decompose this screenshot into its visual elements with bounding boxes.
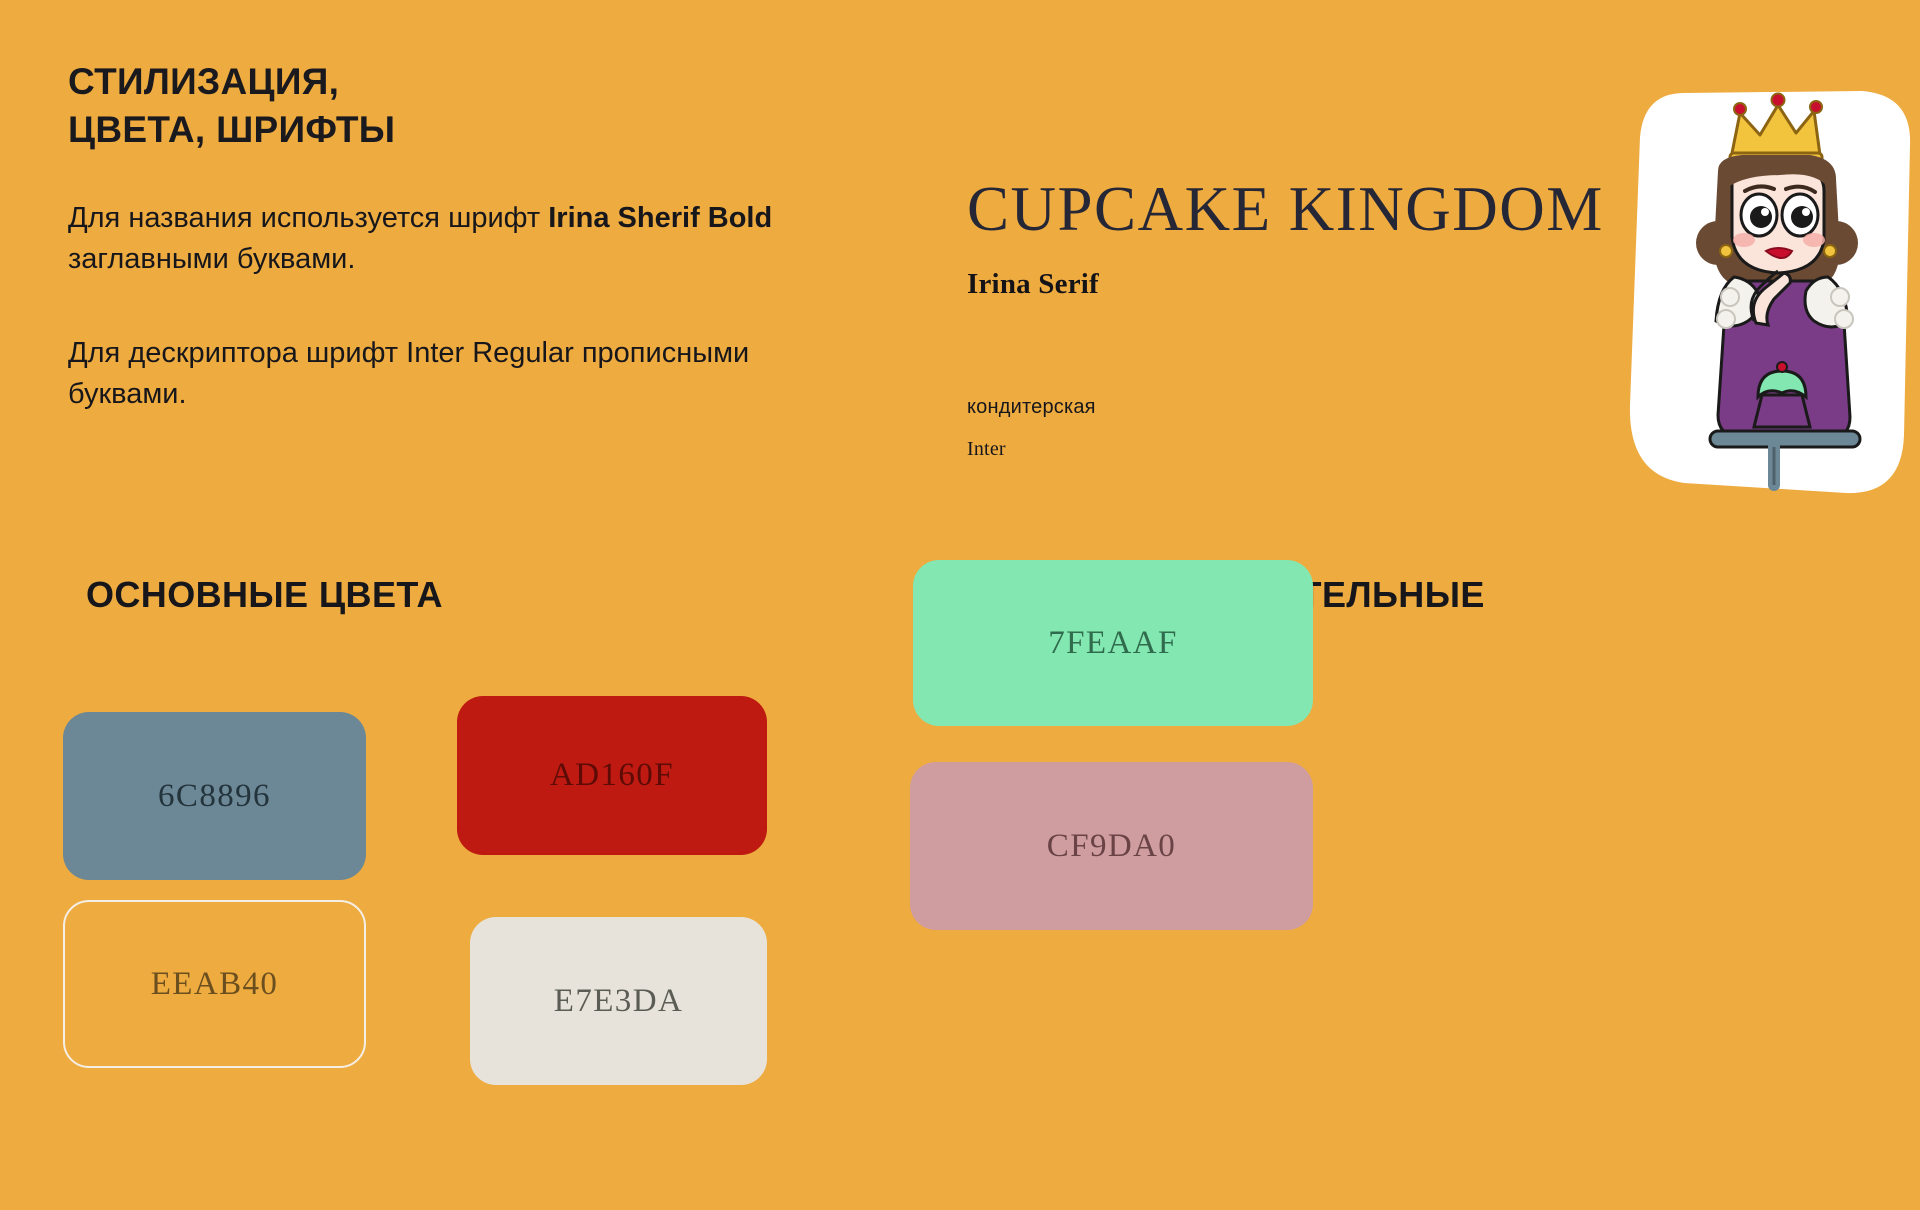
intro-paragraph-1: Для названия используется шрифт Irina Sh… [68,198,828,280]
intro-paragraph-1-text-before: Для названия используется шрифт [68,202,548,234]
color-swatch-label: AD160F [550,757,674,794]
cupcake-queen-sticker-icon [1614,75,1914,505]
font-specimen-block: CUPCAKE KINGDOM Irina Serif кондитерская… [967,178,1667,461]
intro-paragraph-1-text-after: заглавными буквами. [68,243,355,275]
color-swatch-label: 7FEAAF [1048,625,1177,662]
color-swatch-label: 6C8896 [158,778,271,815]
color-swatch-red[interactable]: AD160F [457,696,767,855]
brand-font-label: Irina Serif [967,268,1667,301]
descriptor-specimen: кондитерская [967,396,1667,419]
intro-paragraph-1-font-name: Irina Sherif Bold [548,202,772,234]
color-swatch-label: E7E3DA [554,983,683,1020]
color-swatch-mint[interactable]: 7FEAAF [913,560,1313,726]
brand-name-specimen: CUPCAKE KINGDOM [967,178,1667,241]
intro-paragraph-2: Для дескриптора шрифт Inter Regular проп… [68,333,828,415]
descriptor-font-label: Inter [967,438,1667,461]
page-title: СТИЛИЗАЦИЯ, ЦВЕТА, ШРИФТЫ [68,58,828,154]
color-swatch-pink[interactable]: CF9DA0 [910,762,1313,930]
color-swatch-slate[interactable]: 6C8896 [63,712,366,880]
color-swatch-amber[interactable]: EEAB40 [63,900,366,1068]
color-swatch-label: CF9DA0 [1047,828,1176,865]
heading-primary-colors: ОСНОВНЫЕ ЦВЕТА [86,574,443,616]
color-swatch-label: EEAB40 [151,966,279,1003]
intro-block: СТИЛИЗАЦИЯ, ЦВЕТА, ШРИФТЫ Для названия и… [68,58,828,415]
slide-canvas: СТИЛИЗАЦИЯ, ЦВЕТА, ШРИФТЫ Для названия и… [0,0,1920,1210]
color-swatch-cream[interactable]: E7E3DA [470,917,767,1085]
